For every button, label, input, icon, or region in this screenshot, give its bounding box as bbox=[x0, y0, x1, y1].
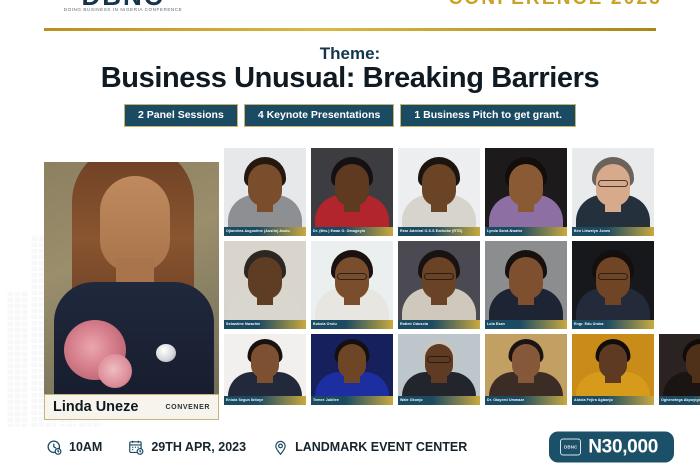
highlight-chips: 2 Panel Sessions 4 Keynote Presentations… bbox=[0, 104, 700, 127]
convener-photo bbox=[44, 162, 219, 407]
speaker-card[interactable]: Dr. (Mrs.) Ewan O. Omogoyin bbox=[311, 148, 393, 236]
speaker-photo bbox=[224, 241, 306, 320]
speaker-card[interactable]: Ben Llewelyn Jones bbox=[572, 148, 654, 236]
convener-name: Linda Uneze bbox=[53, 399, 166, 415]
speaker-photo bbox=[485, 334, 567, 396]
speaker-photo bbox=[224, 148, 306, 227]
speaker-photo bbox=[311, 241, 393, 320]
speaker-nameplate: Ben Llewelyn Jones bbox=[572, 227, 654, 236]
speaker-card[interactable]: Lola Esan bbox=[485, 241, 567, 329]
event-details-bar: 10AM 29TH APR, 2023 LANDMARK EVENT C bbox=[0, 427, 700, 467]
theme-title: Business Unusual: Breaking Barriers bbox=[0, 62, 700, 95]
logo-mark: DBNC bbox=[38, 0, 208, 6]
clock-icon bbox=[46, 439, 63, 456]
convener-card: Linda Uneze CONVENER bbox=[44, 152, 219, 420]
location-pin-icon bbox=[272, 439, 289, 456]
speaker-nameplate: Oghenetega Akpoyigor bbox=[659, 396, 700, 405]
convener-role: CONVENER bbox=[166, 404, 210, 411]
conference-year: CONFERENCE 2023 bbox=[448, 0, 662, 10]
speaker-photo bbox=[572, 241, 654, 320]
speaker-nameplate: Dr. Olayemi Ummaze bbox=[485, 396, 567, 405]
highlight-chip: 1 Business Pitch to get grant. bbox=[400, 104, 576, 127]
speaker-photo bbox=[398, 148, 480, 227]
theme-label: Theme: bbox=[0, 44, 700, 64]
speaker-photo bbox=[398, 241, 480, 320]
ticket-price-text: N30,000 bbox=[588, 436, 658, 458]
speaker-nameplate: Lynda Saint-Nwafor bbox=[485, 227, 567, 236]
speaker-card[interactable]: Oghenetega Akpoyigor bbox=[659, 334, 700, 405]
speaker-nameplate: Eniola Segun Ibitoye bbox=[224, 396, 306, 405]
speaker-photo bbox=[485, 241, 567, 320]
speaker-card[interactable]: Abiola Fejira Agbanjo bbox=[572, 334, 654, 405]
speaker-card[interactable]: Temee Jubilee bbox=[311, 334, 393, 405]
speaker-photo bbox=[398, 334, 480, 396]
speaker-photo bbox=[572, 334, 654, 396]
conference-logo: DBNC DOING BUSINESS IN NIGERIA CONFERENC… bbox=[38, 0, 208, 12]
event-time: 10AM bbox=[46, 439, 102, 456]
highlight-chip: 4 Keynote Presentations bbox=[244, 104, 395, 127]
speaker-nameplate: Rear Admiral O.S.S Ezekobe (RTD) bbox=[398, 227, 480, 236]
event-time-text: 10AM bbox=[69, 440, 102, 454]
speaker-nameplate: Lola Esan bbox=[485, 320, 567, 329]
speaker-photo bbox=[311, 334, 393, 396]
logo-subtitle: DOING BUSINESS IN NIGERIA CONFERENCE bbox=[38, 7, 208, 12]
speaker-card[interactable]: Sebastine Nwachie bbox=[224, 241, 306, 329]
event-date-text: 29TH APR, 2023 bbox=[151, 440, 246, 454]
speaker-nameplate: Wale Okonjo bbox=[398, 396, 480, 405]
speaker-nameplate: Sebastine Nwachie bbox=[224, 320, 306, 329]
speaker-photo bbox=[572, 148, 654, 227]
speaker-nameplate: Temee Jubilee bbox=[311, 396, 393, 405]
speaker-card[interactable]: Rear Admiral O.S.S Ezekobe (RTD) bbox=[398, 148, 480, 236]
event-date: 29TH APR, 2023 bbox=[128, 439, 246, 456]
speaker-card[interactable]: Dr. Olayemi Ummaze bbox=[485, 334, 567, 405]
speaker-photo bbox=[311, 148, 393, 227]
event-venue-text: LANDMARK EVENT CENTER bbox=[295, 440, 467, 454]
speaker-nameplate: Bukola Orolu bbox=[311, 320, 393, 329]
speaker-card[interactable]: Engr. Edu Uroka bbox=[572, 241, 654, 329]
speaker-photo bbox=[659, 334, 700, 396]
speaker-nameplate: Ojiandrea Augustine (Austin) Asolu bbox=[224, 227, 306, 236]
ticket-price-badge[interactable]: DBNC N30,000 bbox=[549, 432, 674, 463]
speaker-nameplate: Abiola Fejira Agbanjo bbox=[572, 396, 654, 405]
convener-nameplate: Linda Uneze CONVENER bbox=[44, 394, 219, 420]
gold-divider bbox=[44, 28, 656, 31]
speaker-card[interactable]: Rotimi Odusola bbox=[398, 241, 480, 329]
speaker-card[interactable]: Ojiandrea Augustine (Austin) Asolu bbox=[224, 148, 306, 236]
speaker-photo bbox=[485, 148, 567, 227]
price-emblem-icon: DBNC bbox=[560, 439, 581, 456]
event-flyer: DBNC DOING BUSINESS IN NIGERIA CONFERENC… bbox=[0, 0, 700, 467]
speaker-nameplate: Rotimi Odusola bbox=[398, 320, 480, 329]
speaker-row: Ojiandrea Augustine (Austin) AsoluDr. (M… bbox=[224, 148, 658, 236]
calendar-icon bbox=[128, 439, 145, 456]
speaker-grid: Ojiandrea Augustine (Austin) AsoluDr. (M… bbox=[224, 148, 658, 405]
speaker-card[interactable]: Wale Okonjo bbox=[398, 334, 480, 405]
speaker-nameplate: Engr. Edu Uroka bbox=[572, 320, 654, 329]
highlight-chip: 2 Panel Sessions bbox=[124, 104, 238, 127]
speaker-photo bbox=[224, 334, 306, 396]
speaker-row: Sebastine NwachieBukola OroluRotimi Odus… bbox=[224, 241, 658, 329]
speaker-card[interactable]: Eniola Segun Ibitoye bbox=[224, 334, 306, 405]
event-venue: LANDMARK EVENT CENTER bbox=[272, 439, 467, 456]
speaker-row: Eniola Segun IbitoyeTemee JubileeWale Ok… bbox=[224, 334, 658, 405]
speaker-card[interactable]: Bukola Orolu bbox=[311, 241, 393, 329]
speaker-nameplate: Dr. (Mrs.) Ewan O. Omogoyin bbox=[311, 227, 393, 236]
speaker-card[interactable]: Lynda Saint-Nwafor bbox=[485, 148, 567, 236]
